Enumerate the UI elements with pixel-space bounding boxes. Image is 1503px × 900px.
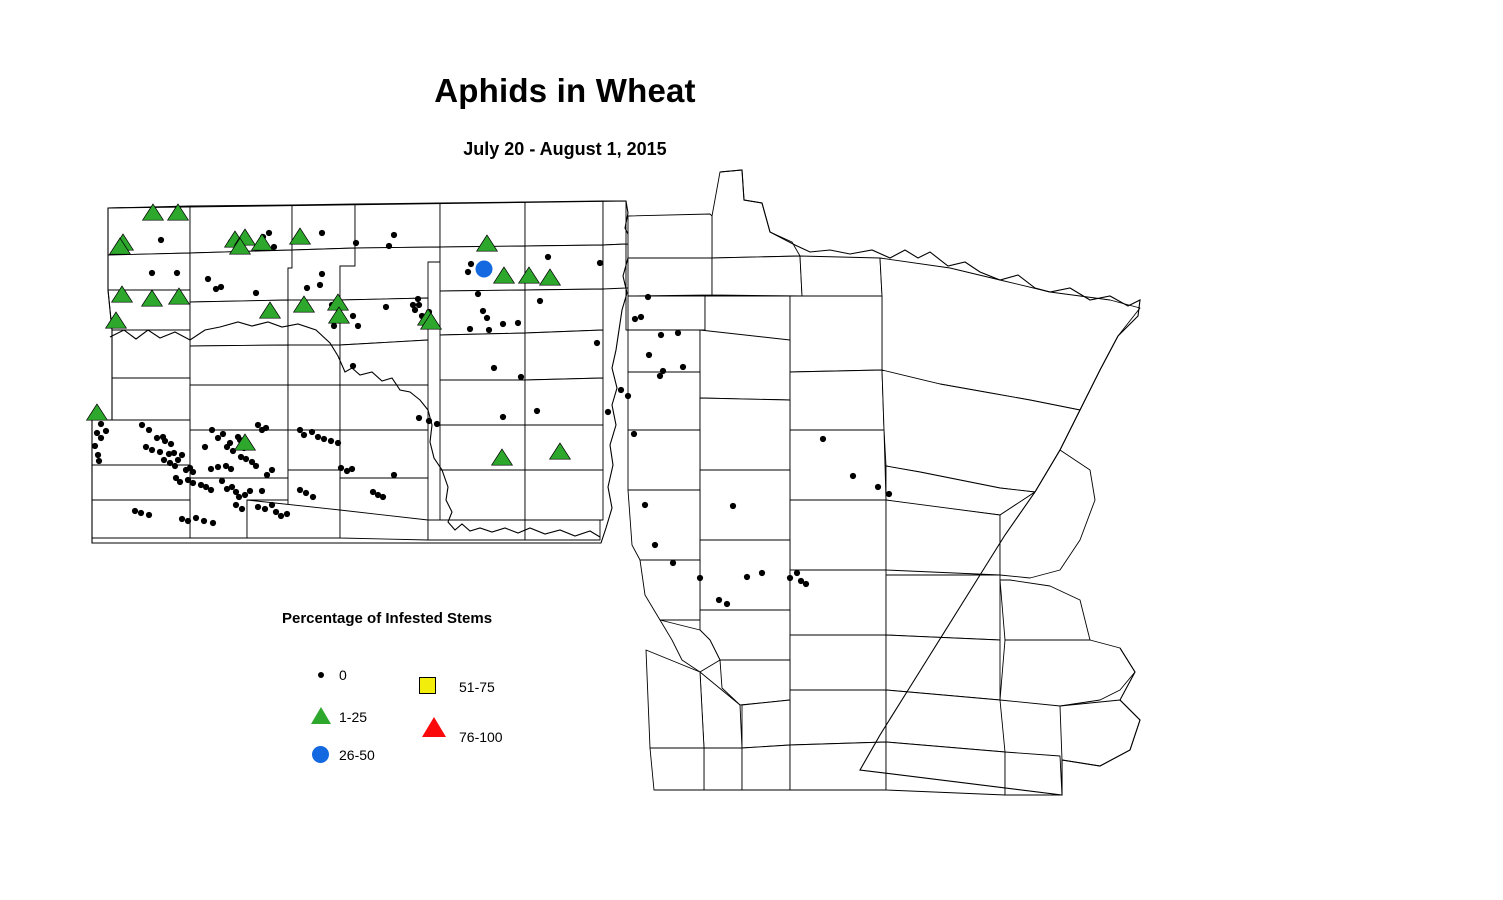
map-point-zero [500, 414, 506, 420]
black-dot-icon [318, 672, 324, 678]
map-point-zero [309, 429, 315, 435]
map-point-zero [304, 285, 310, 291]
map-point-zero [143, 444, 149, 450]
map-point-zero [229, 484, 235, 490]
map-point-zero [149, 447, 155, 453]
map-point-zero [317, 282, 323, 288]
map-point-zero [319, 271, 325, 277]
map-point-zero [273, 509, 279, 515]
map-point-zero [716, 597, 722, 603]
map-point-zero [132, 508, 138, 514]
map-point-zero [205, 276, 211, 282]
map-point-zero [297, 427, 303, 433]
map-point-zero [190, 469, 196, 475]
map-point-zero [278, 513, 284, 519]
map-point-zero [219, 478, 225, 484]
map-point-zero [321, 436, 327, 442]
map-point-zero [380, 494, 386, 500]
map-point-zero [179, 516, 185, 522]
map-point-zero [193, 515, 199, 521]
map-point-zero [228, 466, 234, 472]
minnesota-counties [628, 170, 1140, 795]
map-point-zero [697, 575, 703, 581]
map-point-zero [545, 254, 551, 260]
legend-label-76-100: 76-100 [459, 729, 503, 745]
legend-label-1-25: 1-25 [339, 709, 367, 725]
map-point-zero [242, 492, 248, 498]
map-point-zero [794, 570, 800, 576]
map-point-zero [658, 332, 664, 338]
map-point-zero [209, 427, 215, 433]
map-point-zero [625, 393, 631, 399]
map-point-zero [247, 488, 253, 494]
map-point-zero [426, 418, 432, 424]
map-point-zero [338, 465, 344, 471]
map-point-zero [355, 323, 361, 329]
map-point-zero [171, 450, 177, 456]
map-point-zero [92, 443, 98, 449]
legend-label-26-50: 26-50 [339, 747, 375, 763]
map-figure: Aphids in Wheat July 20 - August 1, 2015 [0, 0, 1503, 900]
map-point-zero [190, 480, 196, 486]
map-point-zero [803, 581, 809, 587]
map-point-zero [331, 323, 337, 329]
map-svg [0, 0, 1503, 900]
map-point-zero [98, 421, 104, 427]
map-point-zero [652, 542, 658, 548]
map-point-zero [675, 330, 681, 336]
map-point-zero [146, 427, 152, 433]
map-point-zero [177, 479, 183, 485]
map-point-zero [335, 440, 341, 446]
map-point-zero [820, 436, 826, 442]
map-point-zero [486, 327, 492, 333]
map-point-zero [174, 270, 180, 276]
map-point-zero [255, 504, 261, 510]
map-point-zero [253, 290, 259, 296]
map-point-zero [210, 520, 216, 526]
map-point-zero [310, 494, 316, 500]
map-point-zero [149, 270, 155, 276]
map-point-zero [646, 352, 652, 358]
map-point-zero [660, 368, 666, 374]
map-point-zero [208, 487, 214, 493]
map-point-zero [94, 430, 100, 436]
map-point-1-25 [87, 404, 108, 420]
map-point-zero [297, 487, 303, 493]
map-point-zero [605, 409, 611, 415]
map-point-zero [146, 512, 152, 518]
map-point-zero [350, 313, 356, 319]
map-point-zero [215, 464, 221, 470]
legend-label-0: 0 [339, 667, 347, 683]
map-point-zero [233, 502, 239, 508]
map-point-zero [638, 314, 644, 320]
map-point-zero [239, 506, 245, 512]
north-dakota-counties [92, 201, 645, 540]
map-point-zero [269, 502, 275, 508]
map-point-zero [434, 421, 440, 427]
map-point-zero [179, 452, 185, 458]
map-point-zero [259, 488, 265, 494]
red-triangle-icon [422, 717, 446, 737]
map-point-zero [284, 511, 290, 517]
map-point-zero [594, 340, 600, 346]
map-point-zero [632, 316, 638, 322]
map-point-zero [264, 472, 270, 478]
map-point-zero [172, 463, 178, 469]
map-point-zero [618, 387, 624, 393]
map-point-zero [215, 435, 221, 441]
map-point-zero [255, 422, 261, 428]
legend: Percentage of Infested Stems 0 1-25 26-5… [282, 610, 582, 770]
map-point-zero [157, 449, 163, 455]
map-point-zero [412, 307, 418, 313]
map-point-zero [383, 304, 389, 310]
map-point-zero [201, 518, 207, 524]
map-point-zero [95, 452, 101, 458]
map-point-zero [353, 240, 359, 246]
map-point-zero [875, 484, 881, 490]
map-point-zero [158, 237, 164, 243]
map-point-zero [301, 432, 307, 438]
map-point-zero [328, 438, 334, 444]
map-point-zero [303, 490, 309, 496]
map-point-zero [468, 261, 474, 267]
map-canvas [0, 0, 1503, 900]
map-point-zero [253, 463, 259, 469]
map-point-zero [168, 441, 174, 447]
map-point-zero [744, 574, 750, 580]
map-point-zero [269, 467, 275, 473]
map-point-zero [500, 321, 506, 327]
map-point-zero [515, 320, 521, 326]
map-point-zero [218, 284, 224, 290]
map-point-zero [724, 601, 730, 607]
map-point-zero [386, 243, 392, 249]
map-point-zero [315, 434, 321, 440]
green-triangle-icon [311, 707, 331, 724]
map-point-zero [202, 444, 208, 450]
map-point-zero [787, 575, 793, 581]
map-point-zero [391, 232, 397, 238]
map-point-zero [484, 315, 490, 321]
map-point-zero [319, 230, 325, 236]
map-point-zero [642, 502, 648, 508]
map-point-zero [491, 365, 497, 371]
map-point-zero [243, 456, 249, 462]
map-point-zero [154, 435, 160, 441]
map-point-zero [518, 374, 524, 380]
map-point-zero [139, 422, 145, 428]
map-point-zero [631, 431, 637, 437]
map-point-zero [96, 458, 102, 464]
map-point-zero [185, 518, 191, 524]
map-point-zero [730, 503, 736, 509]
map-point-zero [161, 457, 167, 463]
map-point-zero [266, 230, 272, 236]
map-point-zero [415, 296, 421, 302]
map-point-zero [227, 440, 233, 446]
legend-title: Percentage of Infested Stems [282, 610, 492, 627]
map-point-zero [208, 466, 214, 472]
map-point-zero [236, 494, 242, 500]
map-point-zero [262, 506, 268, 512]
map-point-zero [350, 363, 356, 369]
map-point-26-50 [476, 261, 493, 278]
blue-circle-icon [312, 746, 329, 763]
map-point-zero [138, 510, 144, 516]
map-point-zero [680, 364, 686, 370]
map-point-zero [645, 294, 651, 300]
map-point-zero [480, 308, 486, 314]
map-point-zero [537, 298, 543, 304]
map-point-zero [162, 438, 168, 444]
map-point-zero [220, 431, 226, 437]
map-point-zero [98, 435, 104, 441]
map-point-zero [534, 408, 540, 414]
map-point-zero [597, 260, 603, 266]
map-point-zero [850, 473, 856, 479]
map-point-zero [465, 269, 471, 275]
map-point-zero [416, 302, 422, 308]
map-point-zero [103, 428, 109, 434]
map-point-zero [670, 560, 676, 566]
map-point-zero [175, 457, 181, 463]
map-point-zero [263, 425, 269, 431]
map-point-zero [467, 326, 473, 332]
map-point-zero [886, 491, 892, 497]
legend-label-51-75: 51-75 [459, 679, 495, 695]
yellow-square-icon [419, 677, 436, 694]
map-point-zero [349, 466, 355, 472]
map-point-zero [416, 415, 422, 421]
map-point-zero [759, 570, 765, 576]
map-point-zero [475, 291, 481, 297]
map-point-zero [391, 472, 397, 478]
